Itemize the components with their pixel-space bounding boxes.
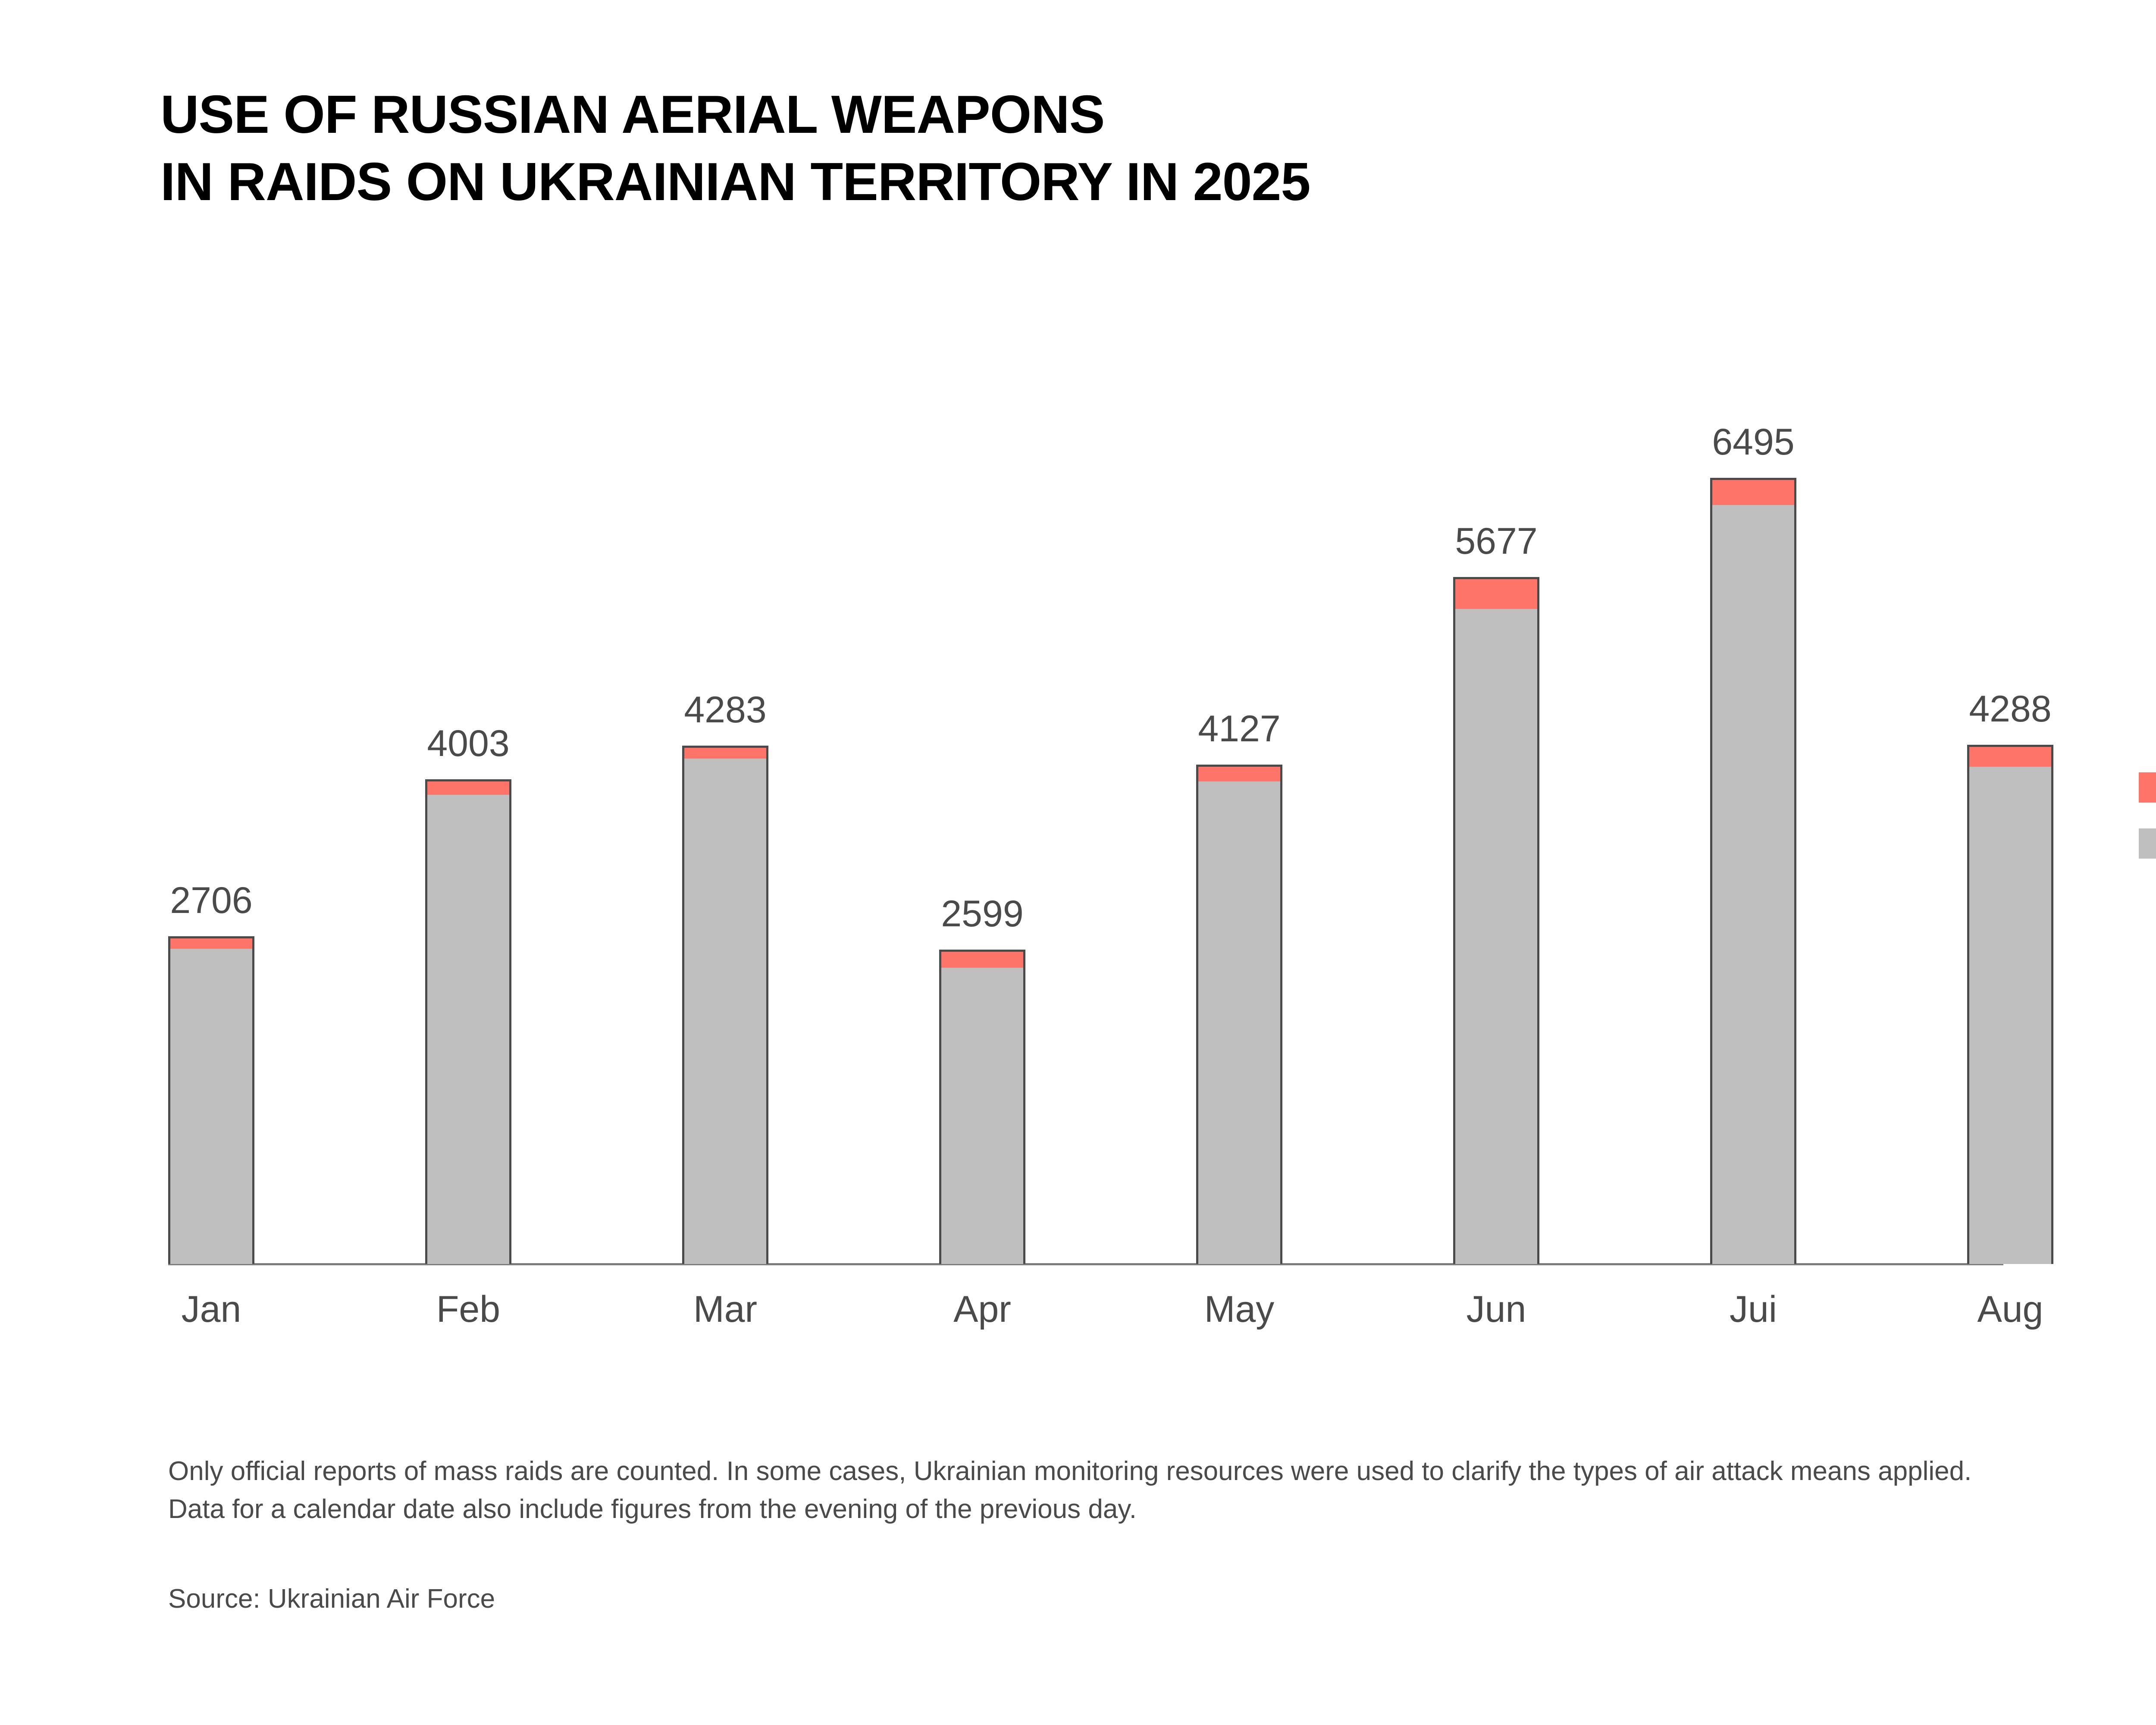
source-note: Source: Ukrainian Air Force bbox=[168, 1584, 495, 1614]
x-tick-label-mar: Mar bbox=[596, 1288, 855, 1331]
x-tick-label-feb: Feb bbox=[339, 1288, 598, 1331]
bar-segment-uav-jun bbox=[1455, 607, 1537, 1264]
legend-item-uavs-drones[interactable]: UAVs (drones) bbox=[2139, 824, 2156, 863]
bar-segment-uav-aug bbox=[1969, 765, 2051, 1264]
bar-value-label-jan: 2706 bbox=[82, 879, 341, 922]
bar-segment-missiles-jui bbox=[1712, 480, 1794, 505]
x-tick-label-jun: Jun bbox=[1367, 1288, 1626, 1331]
bar-value-label-jui: 6495 bbox=[1624, 421, 1883, 464]
bar-value-label-aug: 4288 bbox=[1881, 688, 2140, 731]
bar-value-label-feb: 4003 bbox=[339, 722, 598, 765]
bar-value-label-mar: 4283 bbox=[596, 689, 855, 731]
bar-segment-uav-feb bbox=[427, 793, 509, 1264]
bar-jui[interactable] bbox=[1710, 478, 1796, 1264]
bar-segment-missiles-feb bbox=[427, 781, 509, 795]
bar-mar[interactable] bbox=[682, 746, 768, 1264]
bar-apr[interactable] bbox=[939, 950, 1025, 1264]
chart-legend: MissilesUAVs (drones) bbox=[2139, 768, 2156, 880]
legend-item-missiles[interactable]: Missiles bbox=[2139, 768, 2156, 807]
bar-jun[interactable] bbox=[1453, 577, 1539, 1264]
x-tick-label-may: May bbox=[1110, 1288, 1369, 1331]
bar-may[interactable] bbox=[1196, 765, 1282, 1264]
bar-segment-uav-apr bbox=[941, 966, 1023, 1264]
bar-segment-missiles-jun bbox=[1455, 579, 1537, 609]
x-tick-label-apr: Apr bbox=[853, 1288, 1112, 1331]
bar-segment-uav-mar bbox=[684, 756, 766, 1264]
x-tick-label-aug: Aug bbox=[1881, 1288, 2140, 1331]
bar-segment-missiles-may bbox=[1198, 767, 1280, 781]
bar-jan[interactable] bbox=[168, 936, 254, 1264]
x-tick-label-jan: Jan bbox=[82, 1288, 341, 1331]
bar-aug[interactable] bbox=[1967, 745, 2053, 1264]
bar-value-label-apr: 2599 bbox=[853, 893, 1112, 935]
bar-segment-missiles-apr bbox=[941, 952, 1023, 968]
footnote-line-1: Only official reports of mass raids are … bbox=[168, 1452, 2109, 1490]
legend-swatch-icon bbox=[2139, 828, 2156, 859]
bar-value-label-may: 4127 bbox=[1110, 708, 1369, 750]
bar-segment-uav-jui bbox=[1712, 503, 1794, 1264]
bar-segment-missiles-aug bbox=[1969, 747, 2051, 767]
bar-segment-uav-may bbox=[1198, 779, 1280, 1264]
bar-feb[interactable] bbox=[425, 779, 511, 1264]
footnote-line-2: Data for a calendar date also include fi… bbox=[168, 1490, 2109, 1528]
bar-value-label-jun: 5677 bbox=[1367, 520, 1626, 563]
bar-segment-uav-jan bbox=[170, 947, 252, 1264]
bar-segment-missiles-jan bbox=[170, 938, 252, 949]
chart-footnotes: Only official reports of mass raids are … bbox=[168, 1452, 2109, 1528]
x-tick-label-jui: Jui bbox=[1624, 1288, 1883, 1331]
bar-segment-missiles-mar bbox=[684, 748, 766, 759]
legend-swatch-icon bbox=[2139, 772, 2156, 803]
